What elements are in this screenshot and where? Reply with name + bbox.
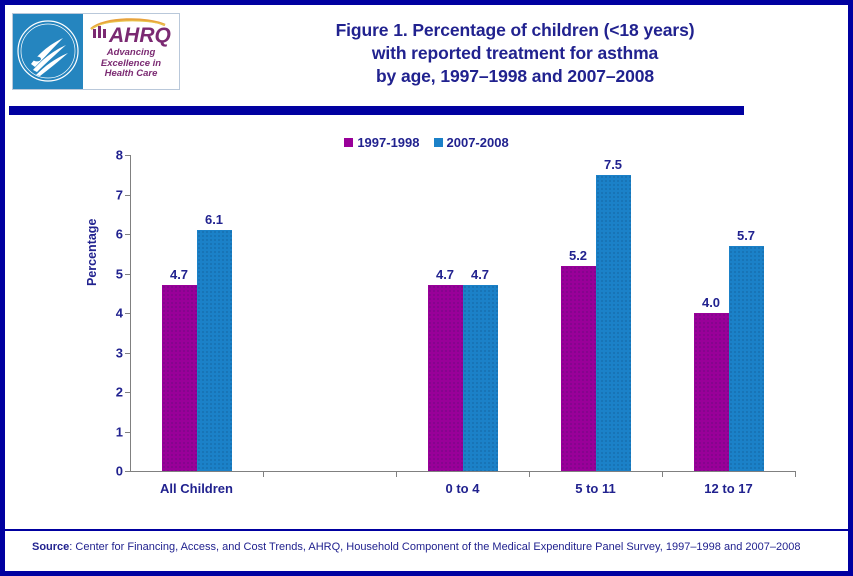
x-axis-category-label: 12 to 17 bbox=[704, 481, 752, 496]
source-note: Source: Center for Financing, Access, an… bbox=[32, 540, 827, 555]
bar-value-label: 4.7 bbox=[471, 267, 489, 282]
bar-2007-2008: 6.1 bbox=[197, 230, 232, 471]
bar-value-label: 4.7 bbox=[436, 267, 454, 282]
plot-area: 012345678All Children4.76.10 to 44.74.75… bbox=[130, 155, 795, 471]
bar-value-label: 5.7 bbox=[737, 228, 755, 243]
y-axis-tick-mark bbox=[125, 195, 130, 196]
x-axis-line bbox=[130, 471, 796, 472]
bar-1997-1998: 4.0 bbox=[694, 313, 729, 471]
x-axis-category-label: 0 to 4 bbox=[446, 481, 480, 496]
legend-item-2007-2008: 2007-2008 bbox=[434, 135, 509, 150]
bar-value-label: 4.0 bbox=[702, 295, 720, 310]
figure-page: AHRQ Advancing Excellence in Health Care… bbox=[0, 0, 853, 576]
y-axis-tick-mark bbox=[125, 432, 130, 433]
source-text: : Center for Financing, Access, and Cost… bbox=[69, 541, 800, 553]
legend-swatch-icon-1997-1998 bbox=[344, 138, 353, 147]
bar-chart: 1997-1998 2007-2008 Percentage 012345678… bbox=[5, 5, 848, 571]
bar-1997-1998: 4.7 bbox=[162, 285, 197, 471]
x-axis-tick-mark bbox=[263, 471, 264, 477]
y-axis-tick-mark bbox=[125, 155, 130, 156]
legend-label-1997-1998: 1997-1998 bbox=[357, 135, 419, 150]
legend-label-2007-2008: 2007-2008 bbox=[447, 135, 509, 150]
y-axis-label: Percentage bbox=[85, 264, 99, 286]
bar-1997-1998: 4.7 bbox=[428, 285, 463, 471]
legend-item-1997-1998: 1997-1998 bbox=[344, 135, 419, 150]
legend-swatch-icon-2007-2008 bbox=[434, 138, 443, 147]
y-axis-tick-mark bbox=[125, 313, 130, 314]
y-axis-tick-mark bbox=[125, 392, 130, 393]
bar-2007-2008: 5.7 bbox=[729, 246, 764, 471]
bar-value-label: 7.5 bbox=[604, 157, 622, 172]
y-axis-tick-mark bbox=[125, 353, 130, 354]
x-axis-tick-mark bbox=[795, 471, 796, 477]
bar-value-label: 6.1 bbox=[205, 212, 223, 227]
x-axis-tick-mark bbox=[529, 471, 530, 477]
x-axis-category-label: 5 to 11 bbox=[575, 481, 615, 496]
footer-divider bbox=[5, 529, 848, 531]
y-axis-tick-mark bbox=[125, 234, 130, 235]
chart-legend: 1997-1998 2007-2008 bbox=[5, 135, 848, 150]
source-label: Source bbox=[32, 541, 69, 553]
x-axis-tick-mark bbox=[662, 471, 663, 477]
bar-2007-2008: 4.7 bbox=[463, 285, 498, 471]
bar-value-label: 4.7 bbox=[170, 267, 188, 282]
x-axis-tick-mark bbox=[396, 471, 397, 477]
bar-1997-1998: 5.2 bbox=[561, 266, 596, 471]
y-axis-tick-mark bbox=[125, 274, 130, 275]
bar-2007-2008: 7.5 bbox=[596, 175, 631, 471]
bar-value-label: 5.2 bbox=[569, 248, 587, 263]
y-axis-tick-mark bbox=[125, 471, 130, 472]
x-axis-category-label: All Children bbox=[160, 481, 233, 496]
